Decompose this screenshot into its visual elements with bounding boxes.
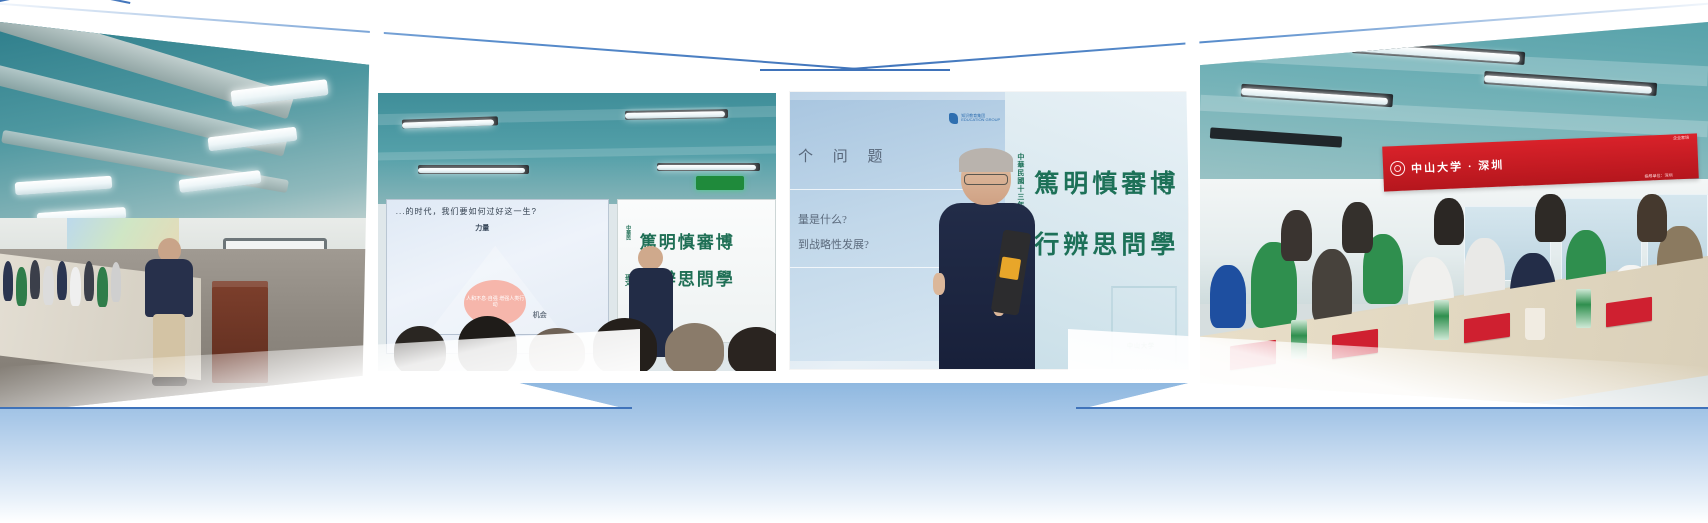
carousel-slide-center-active[interactable]: 知识教育集团EDUCATION GROUP 个 问 题 量是什么? 到战略性发展… <box>790 92 1188 369</box>
floor-edge-right <box>1076 407 1708 409</box>
p3-slide-heading: 个 问 题 <box>798 145 891 166</box>
perspective-floor-panel <box>0 383 1708 523</box>
p1-podium <box>212 281 268 383</box>
photo-speaker-closeup: 知识教育集团EDUCATION GROUP 个 问 题 量是什么? 到战略性发展… <box>790 92 1188 369</box>
p3-calligraphy-line-1: 篤明慎審博 <box>1034 164 1179 200</box>
p3-slide-question-1: 量是什么? <box>798 211 847 227</box>
carousel-slide-far-right[interactable]: 中山大学 · 深圳 企业家培 指导单位：深圳 <box>1200 22 1708 414</box>
p4-coffee-cup <box>1525 308 1545 339</box>
perspective-floor-fill <box>0 383 1708 523</box>
p2-audience-heads <box>378 310 776 371</box>
p4-water-bottle-1 <box>1291 320 1306 359</box>
photo-audience-banner: 中山大学 · 深圳 企业家培 指导单位：深圳 <box>1200 22 1708 414</box>
p3-calligraphy-line-2: 行辨思問學 <box>1034 225 1179 261</box>
university-seal-icon <box>1390 160 1406 176</box>
p2-slide-header-power: 力量 <box>475 223 489 233</box>
p1-presenter <box>145 238 193 383</box>
p4-water-bottle-3 <box>1576 289 1591 328</box>
carousel-stage: ...的时代，我们要如何过好这一生? 力量 机会 人和不息·自强 增强人类行动 … <box>0 0 1708 523</box>
perspective-guide-top-center <box>760 69 950 71</box>
slide-far-right-image: 中山大学 · 深圳 企业家培 指导单位：深圳 <box>1200 22 1708 414</box>
p3-slide-question-2: 到战略性发展? <box>798 236 869 252</box>
p2-exit-sign <box>696 176 744 190</box>
carousel-slide-left[interactable]: ...的时代，我们要如何过好这一生? 力量 机会 人和不息·自强 增强人类行动 … <box>378 93 776 371</box>
p3-gate-caption: 中山大学 <box>1127 341 1155 350</box>
p2-slide-title: ...的时代，我们要如何过好这一生? <box>396 206 599 221</box>
p2-light-d <box>657 165 757 170</box>
p3-brand-logo: 知识教育集团EDUCATION GROUP <box>949 109 1001 128</box>
p4-water-bottle-2 <box>1434 300 1449 339</box>
slide-left-image: ...的时代，我们要如何过好这一生? 力量 机会 人和不息·自强 增强人类行动 … <box>378 93 776 371</box>
photo-projected-slide-deck: ...的时代，我们要如何过好这一生? 力量 机会 人和不息·自强 增强人类行动 … <box>378 93 776 371</box>
p3-logo-text: 知识教育集团EDUCATION GROUP <box>961 114 1000 123</box>
p3-gate-outline <box>1111 286 1177 364</box>
p4-banner-supertitle: 企业家培 <box>1673 134 1689 141</box>
floor-diagonal-left <box>0 0 127 2</box>
slide-center-image: 知识教育集团EDUCATION GROUP 个 问 题 量是什么? 到战略性发展… <box>790 92 1188 369</box>
p4-banner-subtitle: 指导单位：深圳 <box>1644 172 1672 179</box>
p4-banner-title: 中山大学 · 深圳 <box>1411 156 1505 176</box>
p3-logo-mark <box>949 113 958 124</box>
carousel-slide-far-left[interactable] <box>0 22 372 414</box>
photo-classroom-podium <box>0 22 372 414</box>
p2-calligraphy-side-1: 中華民 <box>624 225 631 240</box>
p2-light-c <box>418 168 525 173</box>
slide-far-left-image <box>0 22 372 414</box>
floor-diagonal-right <box>3 0 131 4</box>
floor-edge-left <box>0 407 632 409</box>
